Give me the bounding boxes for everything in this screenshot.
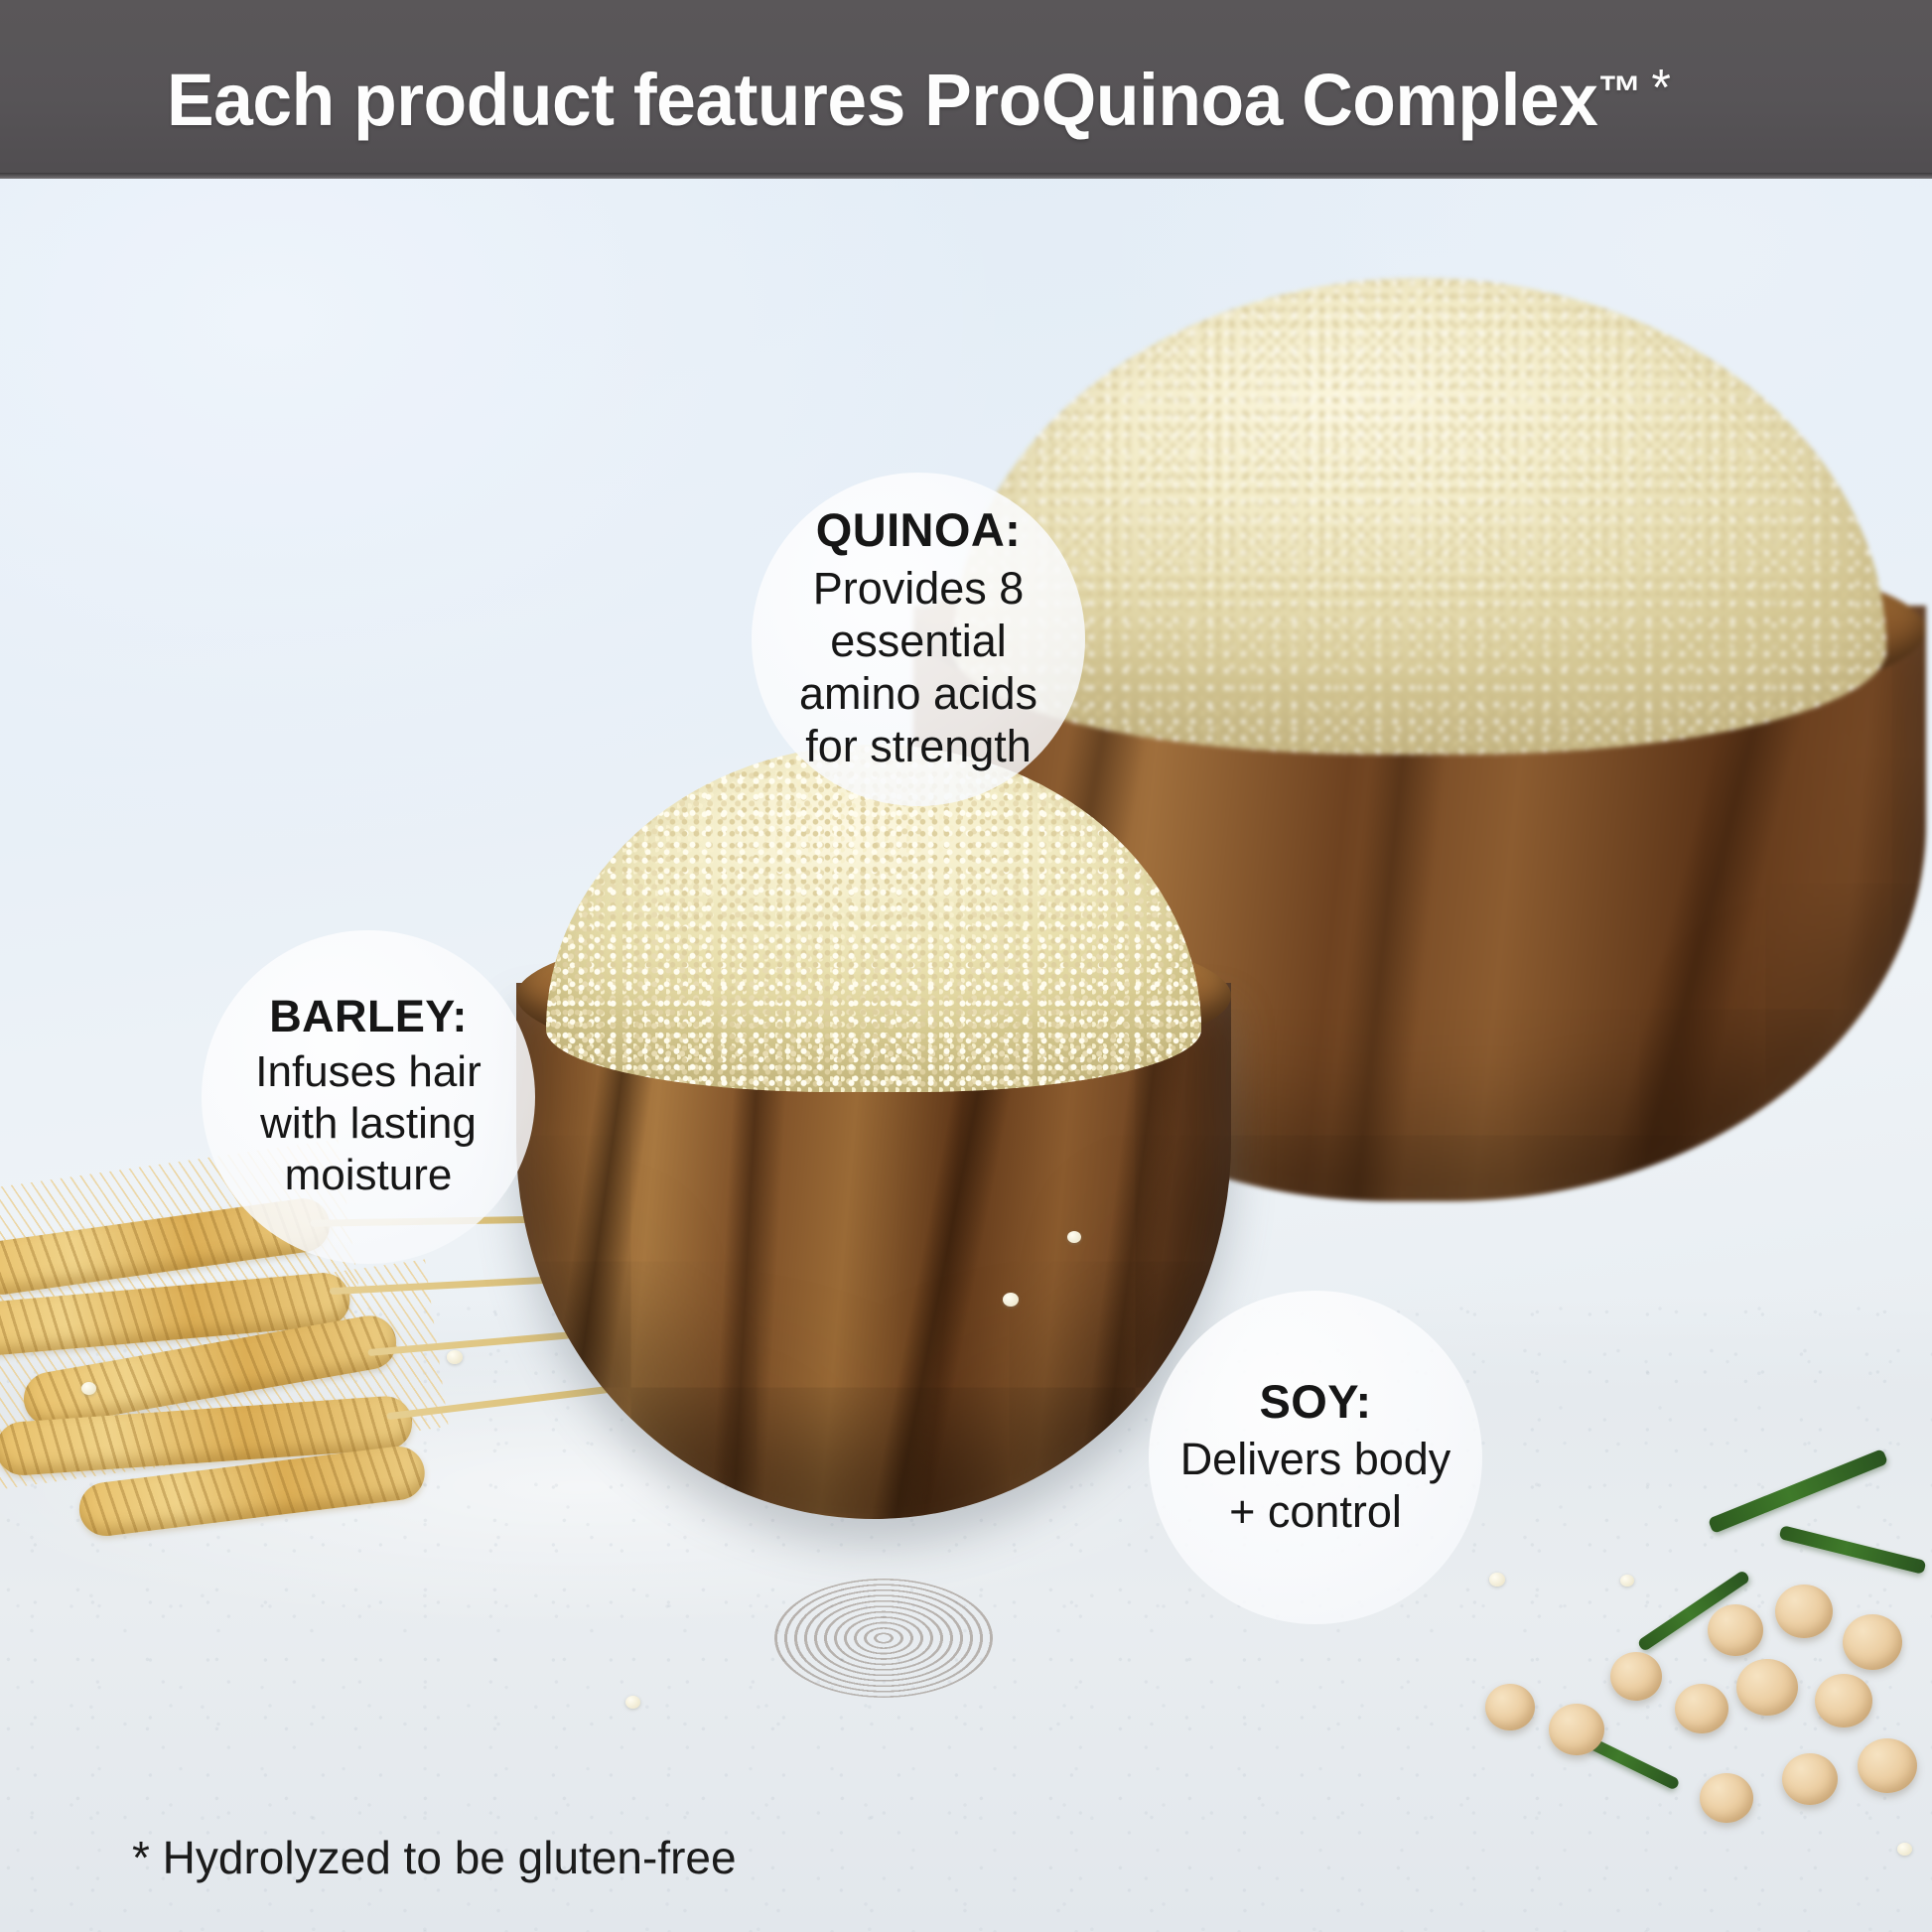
quinoa-speck [447, 1350, 463, 1364]
soybean [1782, 1753, 1838, 1805]
footnote-text: * Hydrolyzed to be gluten-free [132, 1831, 737, 1884]
quinoa-speck [1489, 1573, 1505, 1587]
callout-quinoa-description: Provides 8 essential amino acids for str… [752, 562, 1085, 772]
infographic-canvas: Each product features ProQuinoa Complex™… [0, 0, 1932, 1932]
soybean [1858, 1738, 1917, 1793]
front-bowl-knot [774, 1579, 993, 1698]
callout-barley-title: BARLEY: [269, 993, 467, 1041]
soybean [1843, 1614, 1902, 1670]
soybean [1708, 1604, 1763, 1656]
back-bowl-grains [953, 278, 1886, 755]
page-title: Each product features ProQuinoa Complex™… [167, 30, 1670, 159]
soybean [1815, 1674, 1872, 1727]
page-title-text: Each product features ProQuinoa Complex [167, 59, 1597, 141]
callout-barley[interactable]: BARLEY: Infuses hair with lasting moistu… [202, 930, 535, 1264]
header-bar: Each product features ProQuinoa Complex™… [0, 0, 1932, 179]
quinoa-speck [1067, 1231, 1081, 1243]
soybean [1700, 1773, 1753, 1823]
soybean [1736, 1659, 1798, 1716]
quinoa-speck [81, 1382, 96, 1395]
soybean [1610, 1652, 1662, 1701]
soybean [1485, 1684, 1535, 1730]
callout-soy[interactable]: SOY: Delivers body + control [1149, 1291, 1482, 1624]
trademark-icon: ™ [1597, 66, 1641, 117]
rosemary-sprig [1708, 1449, 1888, 1534]
soybean [1775, 1585, 1833, 1638]
soybean [1549, 1704, 1604, 1755]
product-photo: QUINOA: Provides 8 essential amino acids… [0, 179, 1932, 1932]
callout-soy-description: Delivers body + control [1149, 1433, 1482, 1538]
callout-barley-description: Infuses hair with lasting moisture [202, 1046, 535, 1201]
callout-quinoa-title: QUINOA: [816, 505, 1021, 556]
callout-soy-title: SOY: [1259, 1377, 1371, 1428]
callout-quinoa[interactable]: QUINOA: Provides 8 essential amino acids… [752, 473, 1085, 806]
quinoa-speck [1003, 1293, 1019, 1307]
quinoa-speck [625, 1696, 640, 1709]
soybean [1675, 1684, 1728, 1733]
rosemary-sprig [1779, 1525, 1927, 1575]
quinoa-speck [1620, 1575, 1634, 1587]
asterisk-marker: * [1651, 60, 1670, 117]
quinoa-speck [1897, 1843, 1912, 1856]
